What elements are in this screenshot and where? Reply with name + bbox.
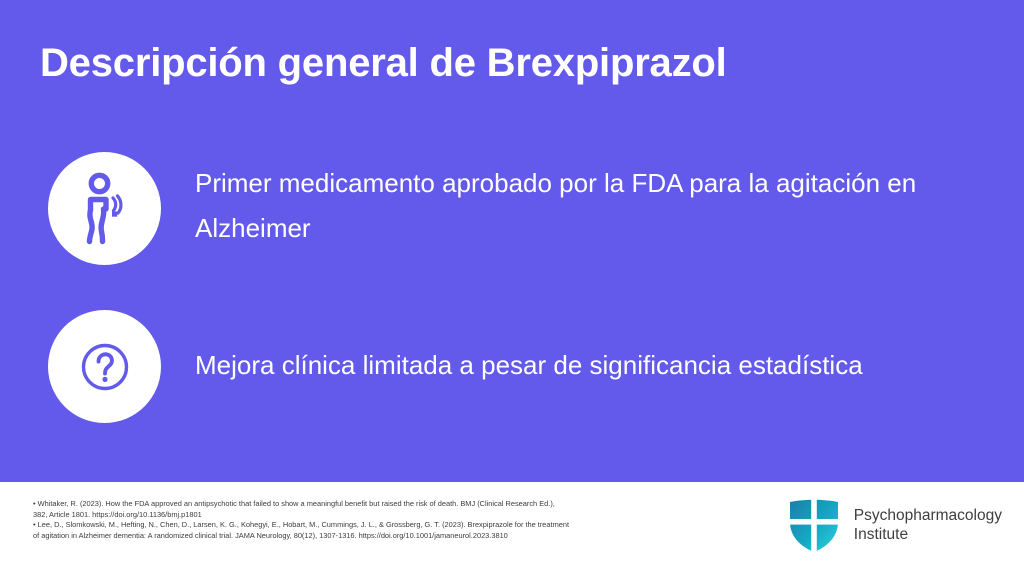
agitated-person-icon	[48, 152, 161, 265]
brand-logo: Psychopharmacology Institute	[788, 496, 1002, 554]
slide-footer: • Whitaker, R. (2023). How the FDA appro…	[0, 482, 1024, 576]
reference-line: • Lee, D., Slomkowski, M., Hefting, N., …	[33, 520, 748, 531]
brand-name-line1: Psychopharmacology	[854, 506, 1002, 525]
shield-logo-icon	[788, 496, 840, 554]
slide: Descripción general de Brexpiprazol	[0, 0, 1024, 576]
reference-line: of agitation in Alzheimer dementia: A ra…	[33, 531, 748, 542]
bullet-text-2: Mejora clínica limitada a pesar de signi…	[195, 343, 955, 388]
reference-line: 382, Article 1801. https://doi.org/10.11…	[33, 510, 748, 521]
brand-name-line2: Institute	[854, 525, 1002, 544]
reference-line: • Whitaker, R. (2023). How the FDA appro…	[33, 499, 748, 510]
page-title: Descripción general de Brexpiprazol	[40, 40, 940, 86]
slide-content-area: Descripción general de Brexpiprazol	[0, 0, 1024, 482]
bullet-item-1: Primer medicamento aprobado por la FDA p…	[48, 152, 968, 265]
bullet-item-2: Mejora clínica limitada a pesar de signi…	[48, 310, 968, 423]
question-mark-circle-icon	[48, 310, 161, 423]
references-block: • Whitaker, R. (2023). How the FDA appro…	[33, 499, 748, 541]
brand-logo-text: Psychopharmacology Institute	[854, 506, 1002, 544]
bullet-text-1: Primer medicamento aprobado por la FDA p…	[195, 161, 955, 251]
